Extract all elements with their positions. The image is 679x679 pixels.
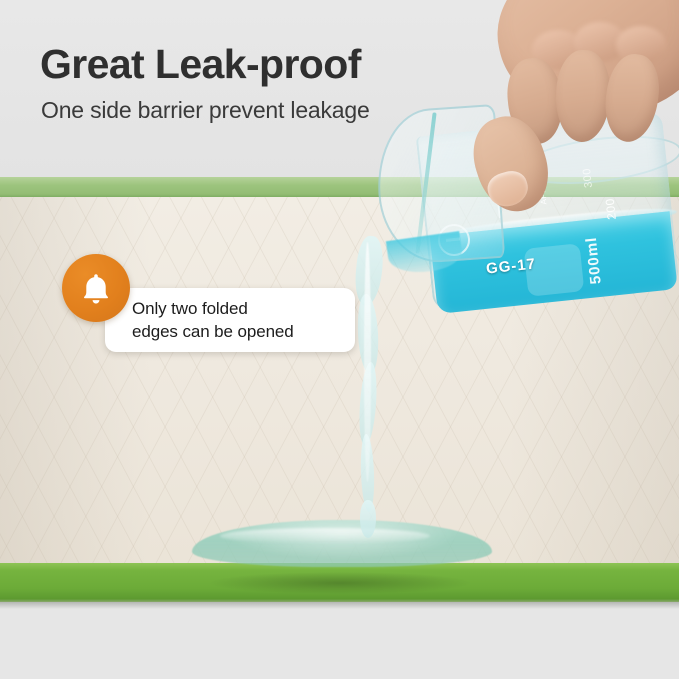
mat-bottom-edge — [0, 563, 679, 602]
bell-icon — [80, 271, 112, 305]
mat-drop-shadow — [0, 602, 679, 609]
product-feature-image: Great Leak-proof One side barrier preven… — [0, 0, 679, 679]
page-title: Great Leak-proof — [40, 44, 361, 85]
callout-tooltip-text: Only two folded edges can be opened — [132, 298, 348, 344]
callout-line-1: Only two folded — [132, 299, 248, 318]
hand — [440, 0, 679, 230]
callout-tooltip: Only two folded edges can be opened — [105, 288, 355, 352]
mat-wet-spot — [210, 572, 470, 594]
page-subtitle: One side barrier prevent leakage — [41, 97, 370, 125]
finger — [554, 49, 611, 143]
callout-line-2: edges can be opened — [132, 322, 294, 341]
callout-badge — [62, 254, 130, 322]
